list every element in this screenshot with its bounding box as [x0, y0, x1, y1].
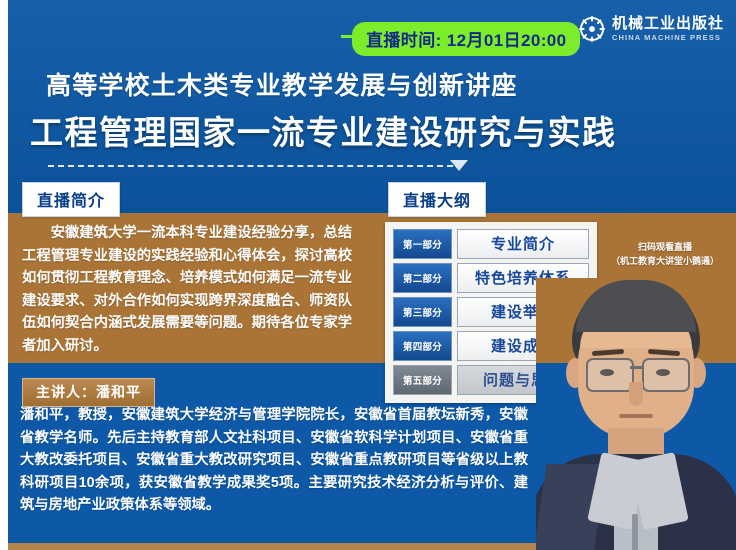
section-tab-outline: 直播大纲 [388, 182, 486, 217]
outline-part-title: 专业简介 [457, 229, 589, 259]
live-lecture-poster: 直播时间: 12月01日20:00 机械工业出版社 CHINA MACHINE … [0, 0, 736, 550]
qr-caption: 扫码观看直播 （机工教育大讲堂小鹅通） [600, 240, 730, 268]
outline-part-number: 第五部分 [393, 365, 452, 395]
series-title: 高等学校土木类专业教学发展与创新讲座 [46, 66, 518, 102]
speaker-portrait-photo [536, 278, 736, 550]
publisher-name-block: 机械工业出版社 CHINA MACHINE PRESS [612, 16, 724, 42]
section-tab-intro: 直播简介 [22, 182, 120, 217]
left-margin-strip [0, 0, 8, 550]
page-title: 工程管理国家一流专业建设研究与实践 [30, 106, 617, 154]
outline-row[interactable]: 第一部分 专业简介 [393, 229, 589, 259]
publisher-logo: 机械工业出版社 CHINA MACHINE PRESS [579, 16, 724, 42]
title-divider-dashed [48, 165, 453, 167]
chevron-down-icon [450, 160, 468, 171]
speaker-bio-paragraph: 潘和平，教授，安徽建筑大学经济与管理学院院长，安徽省首届教坛新秀，安徽省教学名师… [20, 404, 528, 517]
portrait-mouth [619, 414, 653, 418]
outline-part-number: 第四部分 [393, 331, 452, 361]
speaker-bio-block: 潘和平，教授，安徽建筑大学经济与管理学院院长，安徽省首届教坛新秀，安徽省教学名师… [20, 404, 528, 517]
intro-paragraph: 安徽建筑大学一流本科专业建设经验分享，总结工程管理专业建设的实践经验和心得体会，… [22, 222, 352, 357]
qr-caption-line1: 扫码观看直播 [600, 240, 730, 254]
gear-icon [579, 16, 605, 42]
portrait-glasses-left-lens [586, 358, 634, 392]
portrait-zipper [632, 514, 638, 550]
portrait-nose [629, 382, 643, 406]
portrait-glasses-right-lens [642, 358, 690, 392]
qr-caption-line2: （机工教育大讲堂小鹅通） [600, 254, 730, 268]
live-time-badge: 直播时间: 12月01日20:00 [352, 22, 580, 56]
speaker-badge: 主讲人：潘和平 [22, 378, 155, 407]
publisher-name-cn: 机械工业出版社 [612, 16, 724, 31]
publisher-name-en: CHINA MACHINE PRESS [612, 34, 724, 42]
outline-part-number: 第三部分 [393, 297, 452, 327]
intro-text-block: 安徽建筑大学一流本科专业建设经验分享，总结工程管理专业建设的实践经验和心得体会，… [22, 222, 352, 357]
outline-part-number: 第二部分 [393, 263, 452, 293]
outline-part-number: 第一部分 [393, 229, 452, 259]
portrait-glasses-bridge [630, 366, 642, 369]
